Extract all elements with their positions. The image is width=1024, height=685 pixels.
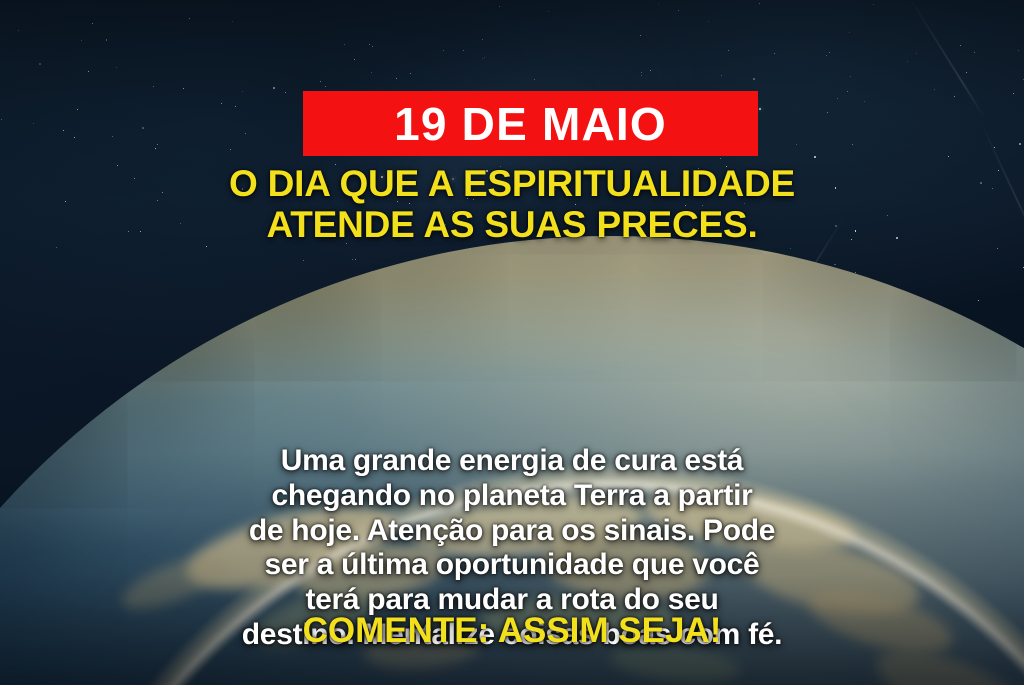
headline: O DIA QUE A ESPIRITUALIDADE ATENDE AS SU… <box>0 164 1024 245</box>
date-banner-label: 19 DE MAIO <box>394 101 667 147</box>
poster-canvas: 19 DE MAIO O DIA QUE A ESPIRITUALIDADE A… <box>0 0 1024 685</box>
headline-line-2: ATENDE AS SUAS PRECES. <box>0 205 1024 246</box>
body-line-3: de hoje. Atenção para os sinais. Pode <box>60 514 964 549</box>
call-to-action-text: COMENTE: ASSIM SEJA! <box>0 613 1024 648</box>
body-line-1: Uma grande energia de cura está <box>60 444 964 479</box>
headline-line-1: O DIA QUE A ESPIRITUALIDADE <box>0 164 1024 205</box>
poster-content: 19 DE MAIO O DIA QUE A ESPIRITUALIDADE A… <box>0 0 1024 685</box>
date-banner: 19 DE MAIO <box>303 91 758 156</box>
body-line-4: ser a última oportunidade que você <box>60 548 964 583</box>
body-line-2: chegando no planeta Terra a partir <box>60 479 964 514</box>
